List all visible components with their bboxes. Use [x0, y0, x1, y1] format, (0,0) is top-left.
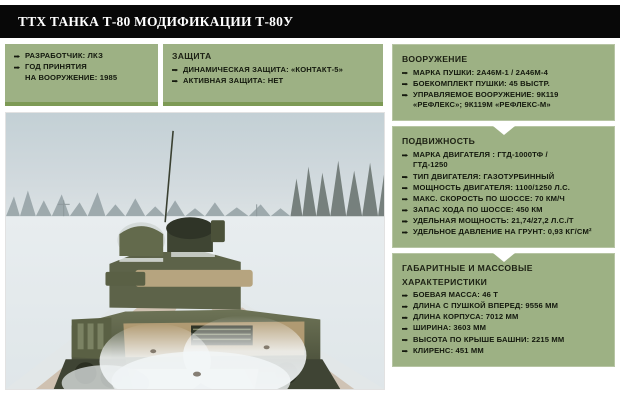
list-item: ДЛИНА КОРПУСА: 7012 ММ [402, 312, 606, 323]
item-text: ДЛИНА С ПУШКОЙ ВПЕРЕД: 9556 ММ [413, 301, 558, 310]
item-text: ВЫСОТА ПО КРЫШЕ БАШНИ: 2215 ММ [413, 335, 564, 344]
section-heading: ЗАЩИТА [172, 51, 375, 63]
list-item: МАРКА ПУШКИ: 2А46М-1 / 2А46М-4 [402, 68, 606, 79]
general-list: РАЗРАБОТЧИК: ЛКЗ ГОД ПРИНЯТИЯ НА ВООРУЖЕ… [14, 51, 150, 83]
item-text-cont: «РЕФЛЕКС»; 9К119М «РЕФЛЕКС-М» [413, 100, 606, 111]
item-text-cont: НА ВООРУЖЕНИЕ: 1985 [25, 73, 150, 84]
list-item: ВЫСОТА ПО КРЫШЕ БАШНИ: 2215 ММ [402, 335, 606, 346]
item-text: УПРАВЛЯЕМОЕ ВООРУЖЕНИЕ: 9К119 [413, 90, 558, 99]
list-item: АКТИВНАЯ ЗАЩИТА: НЕТ [172, 76, 375, 87]
list-item: КЛИРЕНС: 451 ММ [402, 346, 606, 357]
tank-photo [5, 112, 385, 390]
item-text: УДЕЛЬНОЕ ДАВЛЕНИЕ НА ГРУНТ: 0,93 КГ/СМ² [413, 227, 592, 236]
item-text: МАКС. СКОРОСТЬ ПО ШОССЕ: 70 КМ/Ч [413, 194, 565, 203]
infographic-page: ТТХ ТАНКА Т-80 МОДИФИКАЦИИ Т-80У РАЗРАБО… [0, 0, 620, 400]
item-text: ДЛИНА КОРПУСА: 7012 ММ [413, 312, 518, 321]
item-text: ЗАПАС ХОДА ПО ШОССЕ: 450 КМ [413, 205, 543, 214]
list-item: УДЕЛЬНАЯ МОЩНОСТЬ: 21,74/27,2 Л.С./Т [402, 216, 606, 227]
list-item: ДЛИНА С ПУШКОЙ ВПЕРЕД: 9556 ММ [402, 301, 606, 312]
list-item: МОЩНОСТЬ ДВИГАТЕЛЯ: 1100/1250 Л.С. [402, 183, 606, 194]
dimensions-list: БОЕВАЯ МАССА: 46 Т ДЛИНА С ПУШКОЙ ВПЕРЕД… [402, 290, 606, 356]
section-heading-line2: ХАРАКТЕРИСТИКИ [402, 277, 606, 289]
page-title: ТТХ ТАНКА Т-80 МОДИФИКАЦИИ Т-80У [0, 14, 293, 30]
list-item: РАЗРАБОТЧИК: ЛКЗ [14, 51, 150, 62]
item-text: ШИРИНА: 3603 ММ [413, 323, 486, 332]
item-text: БОЕВАЯ МАССА: 46 Т [413, 290, 498, 299]
item-text: ДИНАМИЧЕСКАЯ ЗАЩИТА: «КОНТАКТ-5» [183, 65, 343, 74]
section-heading: ПОДВИЖНОСТЬ [402, 136, 606, 148]
list-item: МАКС. СКОРОСТЬ ПО ШОССЕ: 70 КМ/Ч [402, 194, 606, 205]
list-item: ЗАПАС ХОДА ПО ШОССЕ: 450 КМ [402, 205, 606, 216]
list-item: БОЕКОМПЛЕКТ ПУШКИ: 45 ВЫСТР. [402, 79, 606, 90]
section-heading: ГАБАРИТНЫЕ И МАССОВЫЕ [402, 263, 606, 275]
list-item: УДЕЛЬНОЕ ДАВЛЕНИЕ НА ГРУНТ: 0,93 КГ/СМ² [402, 227, 606, 238]
armament-list: МАРКА ПУШКИ: 2А46М-1 / 2А46М-4 БОЕКОМПЛЕ… [402, 68, 606, 111]
panel-general: РАЗРАБОТЧИК: ЛКЗ ГОД ПРИНЯТИЯ НА ВООРУЖЕ… [5, 44, 158, 106]
item-text: БОЕКОМПЛЕКТ ПУШКИ: 45 ВЫСТР. [413, 79, 550, 88]
protection-list: ДИНАМИЧЕСКАЯ ЗАЩИТА: «КОНТАКТ-5» АКТИВНА… [172, 65, 375, 87]
spec-column: ВООРУЖЕНИЕ МАРКА ПУШКИ: 2А46М-1 / 2А46М-… [392, 44, 615, 372]
item-text: ГОД ПРИНЯТИЯ [25, 62, 87, 71]
list-item: ШИРИНА: 3603 ММ [402, 323, 606, 334]
mobility-list: МАРКА ДВИГАТЕЛЯ : ГТД-1000ТФ / ГТД-1250 … [402, 150, 606, 238]
item-text: МОЩНОСТЬ ДВИГАТЕЛЯ: 1100/1250 Л.С. [413, 183, 570, 192]
list-item: ГОД ПРИНЯТИЯ НА ВООРУЖЕНИЕ: 1985 [14, 62, 150, 83]
section-heading: ВООРУЖЕНИЕ [402, 54, 606, 66]
item-text: МАРКА ПУШКИ: 2А46М-1 / 2А46М-4 [413, 68, 548, 77]
list-item: УПРАВЛЯЕМОЕ ВООРУЖЕНИЕ: 9К119 «РЕФЛЕКС»;… [402, 90, 606, 111]
panel-armament: ВООРУЖЕНИЕ МАРКА ПУШКИ: 2А46М-1 / 2А46М-… [392, 44, 615, 121]
list-item: МАРКА ДВИГАТЕЛЯ : ГТД-1000ТФ / ГТД-1250 [402, 150, 606, 171]
item-text-cont: ГТД-1250 [413, 160, 606, 171]
panel-protection: ЗАЩИТА ДИНАМИЧЕСКАЯ ЗАЩИТА: «КОНТАКТ-5» … [163, 44, 383, 106]
title-bar: ТТХ ТАНКА Т-80 МОДИФИКАЦИИ Т-80У [0, 5, 620, 38]
item-text: МАРКА ДВИГАТЕЛЯ : ГТД-1000ТФ / [413, 150, 548, 159]
item-text: АКТИВНАЯ ЗАЩИТА: НЕТ [183, 76, 283, 85]
item-text: РАЗРАБОТЧИК: ЛКЗ [25, 51, 103, 60]
list-item: ТИП ДВИГАТЕЛЯ: ГАЗОТУРБИННЫЙ [402, 172, 606, 183]
tank-photo-illustration [6, 113, 384, 389]
list-item: БОЕВАЯ МАССА: 46 Т [402, 290, 606, 301]
list-item: ДИНАМИЧЕСКАЯ ЗАЩИТА: «КОНТАКТ-5» [172, 65, 375, 76]
item-text: ТИП ДВИГАТЕЛЯ: ГАЗОТУРБИННЫЙ [413, 172, 554, 181]
item-text: КЛИРЕНС: 451 ММ [413, 346, 484, 355]
panel-dimensions: ГАБАРИТНЫЕ И МАССОВЫЕ ХАРАКТЕРИСТИКИ БОЕ… [392, 253, 615, 367]
panel-mobility: ПОДВИЖНОСТЬ МАРКА ДВИГАТЕЛЯ : ГТД-1000ТФ… [392, 126, 615, 248]
item-text: УДЕЛЬНАЯ МОЩНОСТЬ: 21,74/27,2 Л.С./Т [413, 216, 574, 225]
